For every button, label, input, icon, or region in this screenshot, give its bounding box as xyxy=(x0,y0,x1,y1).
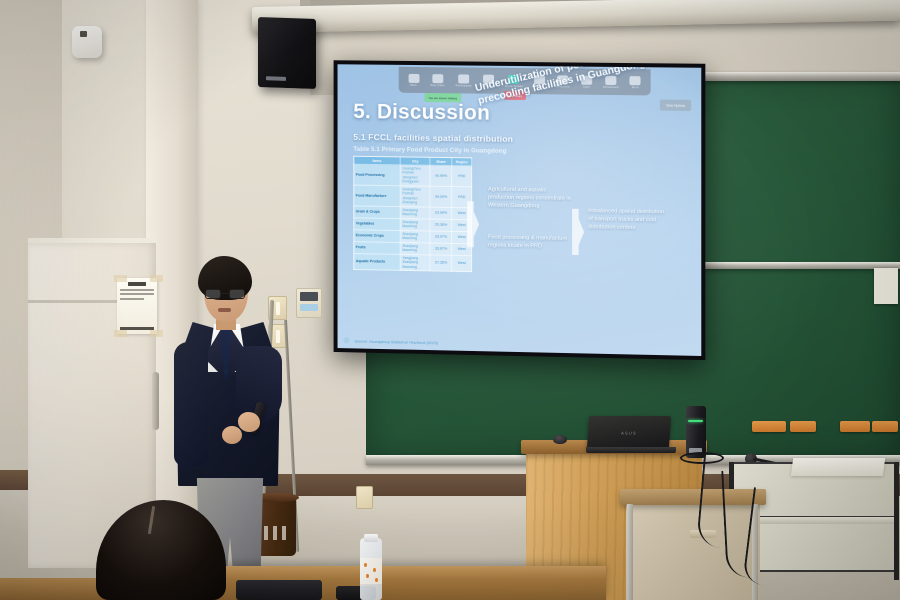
cell-share: 33.67% xyxy=(430,243,452,255)
door-handle[interactable] xyxy=(152,372,159,430)
projection-screen: Mute Stop Video Participants Chat Share … xyxy=(334,60,706,360)
lecture-room-photo: Mute Stop Video Participants Chat Share … xyxy=(0,0,900,600)
label-dot xyxy=(364,563,367,567)
more-icon xyxy=(630,76,641,85)
camera-icon xyxy=(432,74,443,83)
cell-city: ZhanjiangMaoming xyxy=(400,230,430,242)
bottle-label xyxy=(360,558,382,584)
cell-share: 34.04% xyxy=(430,186,452,207)
cell-share: 23.99% xyxy=(430,207,452,219)
slide-subtitle: 5.1 FCCL facilities spatial distribution xyxy=(353,132,513,144)
tablet-device[interactable] xyxy=(236,580,322,600)
conference-speaker[interactable] xyxy=(686,406,706,458)
chalk-box[interactable] xyxy=(840,421,870,432)
wall-notice-paper xyxy=(117,278,157,334)
cell-share: 44.99% xyxy=(430,165,452,186)
slide-title: 5. Discussion xyxy=(353,100,490,125)
cell-item: Grain & Crops xyxy=(354,206,400,219)
label-dot xyxy=(366,574,369,578)
label-dot xyxy=(373,568,376,572)
lens-left xyxy=(205,289,221,299)
cell-share: 23.97% xyxy=(430,231,452,243)
toolbar-label: Apps xyxy=(583,85,590,88)
chalkboard-paper-note xyxy=(874,268,898,304)
mouth xyxy=(218,308,231,312)
notice-line xyxy=(120,298,144,300)
tape-piece xyxy=(114,275,127,282)
chalk-box[interactable] xyxy=(752,421,786,432)
cell-city: GuangzhouFoshanJiangmenDongguan xyxy=(400,165,430,186)
microphone-icon xyxy=(408,73,419,82)
tape-piece xyxy=(114,330,127,337)
table-body: Food ProcessingGuangzhouFoshanJiangmenDo… xyxy=(354,164,472,272)
toolbar-label: Participants xyxy=(456,84,472,87)
computer-mouse[interactable] xyxy=(553,435,567,444)
table-header-cell: Region xyxy=(452,158,472,166)
papers-on-cart xyxy=(791,458,886,476)
toolbar-item-more[interactable]: More xyxy=(630,76,641,89)
participants-icon xyxy=(458,74,469,83)
cell-city: ZhanjiangMaoming xyxy=(400,242,430,254)
callout-prd: Food processing & manufacture regions lo… xyxy=(488,233,572,251)
label-dot xyxy=(375,578,378,582)
cell-item: Economic Crops xyxy=(354,230,400,243)
view-options-label: View Options xyxy=(666,103,685,107)
toolbar-item-participants[interactable]: Participants xyxy=(456,74,472,87)
notice-line xyxy=(120,293,154,295)
wall-speaker-sony xyxy=(258,17,316,89)
table-row: Aquatic ProductsYangjiangZhanjiangMaomin… xyxy=(354,253,472,272)
eyeglasses-icon xyxy=(204,289,248,299)
cell-item: Food Manufacture xyxy=(354,185,400,207)
smoke-detector-icon xyxy=(72,26,102,58)
wall-outlet[interactable] xyxy=(356,486,373,509)
cell-item: Aquatic Products xyxy=(354,253,400,270)
slide-page-marker xyxy=(343,337,349,343)
cell-share: 20.36% xyxy=(430,219,452,231)
toolbar-label: More xyxy=(632,86,639,89)
food-product-city-table: ItemsCityShareRegion Food ProcessingGuan… xyxy=(353,156,472,273)
laptop-asus[interactable]: ASUS xyxy=(587,416,671,449)
table-caption: Table 5.1 Primary Food Product City in G… xyxy=(353,146,506,155)
desk-leg xyxy=(627,504,633,600)
callout-western-guangdong: Agricultural and aquatic production regi… xyxy=(488,186,572,212)
toolbar-label: Whiteboard xyxy=(603,85,618,88)
callout-imbalanced: Imbalanced spatial distribution of trans… xyxy=(588,207,669,233)
laptop-brand-label: ASUS xyxy=(621,431,637,436)
tape-piece xyxy=(150,330,163,337)
cart-leg xyxy=(894,462,899,580)
tape-piece xyxy=(150,275,163,282)
cell-item: Vegetables xyxy=(354,218,400,231)
cell-item: Fruits xyxy=(354,241,400,254)
notice-heading xyxy=(128,282,146,286)
toolbar-label: Mute xyxy=(410,83,417,86)
view-options-button[interactable]: View Options xyxy=(660,100,691,111)
hand-right xyxy=(238,412,260,432)
chalk-box[interactable] xyxy=(872,421,898,432)
table-row: Food ProcessingGuangzhouFoshanJiangmenDo… xyxy=(354,164,472,187)
bottle-cap xyxy=(364,534,378,542)
cell-region: West xyxy=(452,255,472,272)
cell-city: GuangzhouFoshanJiangmenZhaoqing xyxy=(400,186,430,207)
cell-item: Food Processing xyxy=(354,164,400,185)
slide-source: Source: Guangdong Statistical Yearbook (… xyxy=(354,338,438,345)
chalk-box[interactable] xyxy=(790,421,816,432)
cell-share: 27.35% xyxy=(430,255,452,272)
arrow-right-icon xyxy=(572,209,584,255)
toolbar-item-video[interactable]: Stop Video xyxy=(430,74,445,87)
share-status-text: You are screen sharing xyxy=(428,96,456,100)
cell-city: ZhanjiangMaoming xyxy=(400,218,430,230)
table-row: Food ManufactureGuangzhouFoshanJiangmenZ… xyxy=(354,185,472,208)
cell-city: ZhanjiangMaoming xyxy=(400,207,430,219)
hand-left xyxy=(222,426,242,444)
arrow-right-icon xyxy=(467,201,479,247)
laptop-keyboard-base[interactable] xyxy=(586,447,676,453)
lens-right xyxy=(229,289,245,299)
notice-line xyxy=(120,289,154,291)
toolbar-label: Stop Video xyxy=(430,84,445,87)
cell-city: YangjiangZhanjiangMaoming xyxy=(400,254,430,271)
speaker-status-led xyxy=(688,420,703,422)
arm-left xyxy=(174,342,208,466)
toolbar-item-mute[interactable]: Mute xyxy=(408,73,419,86)
cell-region: PRD xyxy=(452,166,472,187)
glasses-bridge xyxy=(221,293,229,294)
presentation-slide: Mute Stop Video Participants Chat Share … xyxy=(338,64,702,356)
